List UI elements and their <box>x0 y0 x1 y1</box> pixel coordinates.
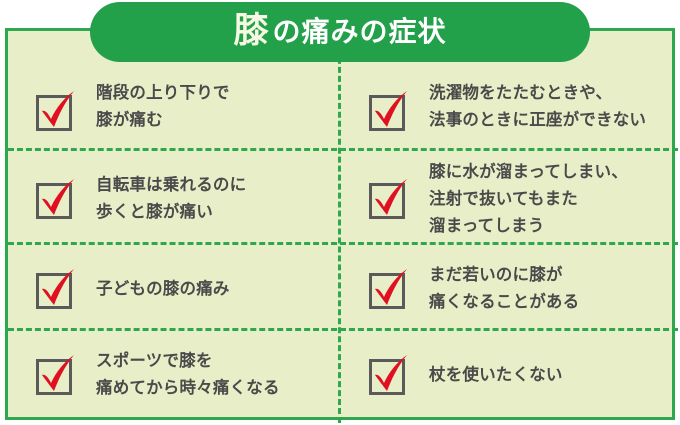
checked-checkbox-icon <box>34 265 80 311</box>
symptom-text: 自転車は乗れるのに 歩くと膝が痛い <box>96 171 246 225</box>
checked-checkbox-icon <box>367 87 413 133</box>
checked-checkbox-icon <box>367 265 413 311</box>
symptom-item-3: 自転車は乗れるのに 歩くと膝が痛い <box>8 151 341 245</box>
checked-checkbox-icon <box>34 175 80 221</box>
symptom-text: 子どもの膝の痛み <box>96 275 230 302</box>
symptom-text: まだ若いのに膝が 痛くなることがある <box>429 261 579 315</box>
symptom-item-7: スポーツで膝を 痛めてから時々痛くなる <box>8 331 341 417</box>
checked-checkbox-icon <box>34 87 80 133</box>
symptom-item-6: まだ若いのに膝が 痛くなることがある <box>341 245 674 331</box>
symptom-text: 階段の上り下りで 膝が痛む <box>96 79 230 133</box>
checklist-panel: 階段の上り下りで 膝が痛む 洗濯物をたたむときや、 法事のときに正座ができない <box>5 28 675 420</box>
symptom-checklist-infographic: 階段の上り下りで 膝が痛む 洗濯物をたたむときや、 法事のときに正座ができない <box>0 0 680 425</box>
symptom-item-5: 子どもの膝の痛み <box>8 245 341 331</box>
checked-checkbox-icon <box>367 175 413 221</box>
symptom-text: 杖を使いたくない <box>429 361 563 388</box>
symptom-item-4: 膝に水が溜まってしまい、 注射で抜いてもまた 溜まってしまう <box>341 151 674 245</box>
symptom-text: スポーツで膝を 痛めてから時々痛くなる <box>96 347 280 401</box>
title-highlight: 膝 <box>233 14 268 49</box>
symptom-text: 膝に水が溜まってしまい、 注射で抜いてもまた 溜まってしまう <box>429 158 628 239</box>
symptom-text: 洗濯物をたたむときや、 法事のときに正座ができない <box>429 79 646 133</box>
title-rest: の痛みの症状 <box>273 18 447 46</box>
checked-checkbox-icon <box>367 351 413 397</box>
title-banner: 膝 の痛みの症状 <box>90 2 590 62</box>
symptom-item-8: 杖を使いたくない <box>341 331 674 417</box>
symptom-grid: 階段の上り下りで 膝が痛む 洗濯物をたたむときや、 法事のときに正座ができない <box>8 31 678 423</box>
checked-checkbox-icon <box>34 351 80 397</box>
